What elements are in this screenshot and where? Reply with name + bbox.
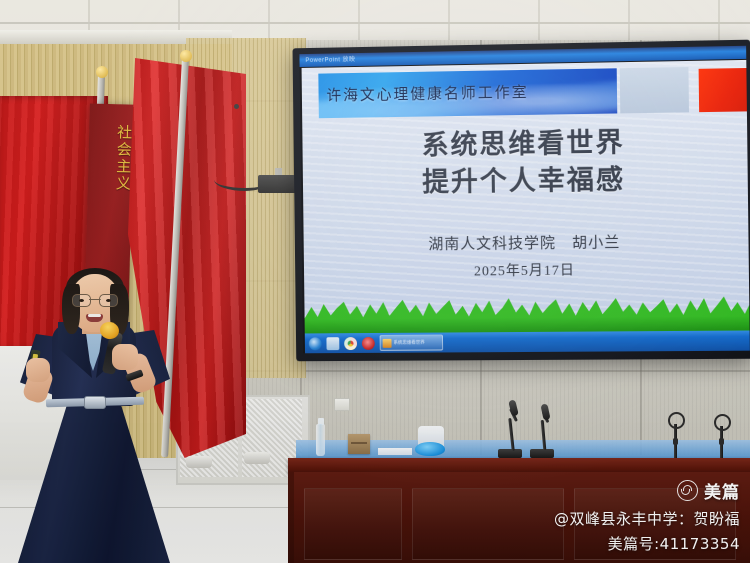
- flag-stand-base-far: [244, 452, 270, 464]
- meipian-logo-icon: [677, 480, 698, 501]
- name-plate: [348, 434, 370, 454]
- photo-screenshot: 社会主义 PowerPoint 放映 许海文心理健康名师工作室: [0, 0, 750, 563]
- presenter-belt-buckle: [84, 396, 106, 409]
- slide-title-line-1: 系统思维看世界: [302, 122, 747, 166]
- presentation-icon: [383, 338, 392, 347]
- wall-sensor: [234, 104, 239, 109]
- presenter-mouth: [86, 314, 103, 322]
- window-title-text: PowerPoint 放映: [305, 54, 355, 64]
- watermark-brand-text: 美篇: [704, 478, 740, 503]
- taskbar-active-task[interactable]: 系统思维看世界: [380, 335, 444, 351]
- presenter-skirt: [18, 396, 170, 563]
- watermark-id: 美篇号:41173354: [608, 533, 740, 554]
- slide-title-line-2: 提升个人幸福感: [303, 160, 748, 203]
- presenter-hair-left: [62, 284, 80, 334]
- stand-microphone: [666, 412, 686, 458]
- flag-pole-finial-left: [96, 66, 108, 78]
- windows-taskbar[interactable]: 系统思维看世界: [305, 330, 750, 353]
- slide-header-text: 许海文心理健康名师工作室: [326, 81, 528, 105]
- glasses-icon: [72, 294, 118, 306]
- banner-vertical-text: 社会主义: [88, 123, 134, 192]
- blue-container: [415, 442, 445, 456]
- file-explorer-icon[interactable]: [326, 337, 339, 350]
- presenter-hand-right: [112, 344, 138, 370]
- slide-header-banner: 许海文心理健康名师工作室: [318, 68, 617, 118]
- watermark-brand: 美篇: [677, 478, 740, 503]
- slide-affiliation-speaker: 湖南人文科技学院 胡小兰: [304, 230, 749, 256]
- wall-switch[interactable]: [334, 398, 350, 411]
- chrome-icon[interactable]: [344, 337, 357, 350]
- watermark-user: @双峰县永丰中学：贺盼福: [554, 508, 740, 529]
- slide-header-gray-block: [620, 67, 689, 113]
- slide-grass-decoration: [304, 294, 749, 333]
- slide-title: 系统思维看世界 提升个人幸福感: [302, 122, 748, 203]
- flag-pole-finial-right: [180, 50, 192, 62]
- internet-explorer-icon[interactable]: [309, 337, 322, 350]
- media-player-icon[interactable]: [362, 336, 375, 349]
- presenter: [0, 272, 200, 563]
- presentation-display[interactable]: PowerPoint 放映 许海文心理健康名师工作室 系统思维看世界 提升个人幸…: [293, 40, 750, 362]
- slide-canvas: 许海文心理健康名师工作室 系统思维看世界 提升个人幸福感 湖南人文科技学院 胡小…: [302, 60, 750, 334]
- paper-sheet: [378, 448, 412, 455]
- stand-microphone: [712, 414, 732, 458]
- slide-header-red-block: [699, 68, 750, 112]
- slide-date: 2025年5月17日: [304, 258, 749, 282]
- taskbar-task-label: 系统思维看世界: [393, 340, 424, 346]
- presenter-hand-left: [26, 358, 50, 382]
- display-panel: PowerPoint 放映 许海文心理健康名师工作室 系统思维看世界 提升个人幸…: [299, 46, 749, 354]
- gooseneck-microphone: [528, 404, 568, 458]
- water-bottle: [316, 424, 325, 456]
